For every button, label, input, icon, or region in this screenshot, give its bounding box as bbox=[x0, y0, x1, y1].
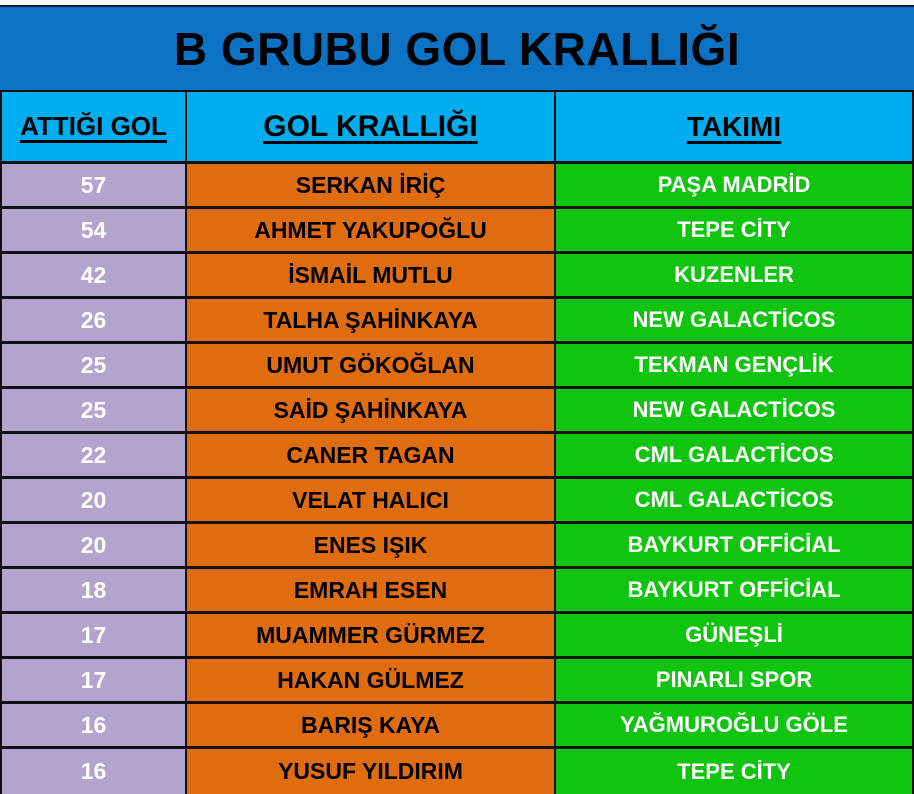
team-value: YAĞMUROĞLU GÖLE bbox=[620, 712, 848, 738]
cell-team: PAŞA MADRİD bbox=[556, 164, 912, 206]
scorer-value: SERKAN İRİÇ bbox=[296, 172, 446, 199]
column-header-goals[interactable]: ATTIĞI GOL bbox=[2, 92, 187, 161]
table-row[interactable]: 26 TALHA ŞAHİNKAYA NEW GALACTİCOS bbox=[2, 299, 912, 344]
cell-goals: 54 bbox=[2, 209, 187, 251]
scorer-value: ENES IŞIK bbox=[314, 532, 428, 559]
cell-goals: 20 bbox=[2, 524, 187, 566]
cell-scorer: AHMET YAKUPOĞLU bbox=[187, 209, 556, 251]
scorer-value: SAİD ŞAHİNKAYA bbox=[274, 397, 468, 424]
goals-value: 16 bbox=[81, 758, 107, 785]
goals-value: 16 bbox=[81, 712, 107, 739]
column-header-scorer[interactable]: GOL KRALLIĞI bbox=[187, 92, 556, 161]
team-value: PINARLI SPOR bbox=[656, 667, 812, 693]
cell-scorer: İSMAİL MUTLU bbox=[187, 254, 556, 296]
team-value: CML GALACTİCOS bbox=[635, 442, 834, 468]
cell-goals: 16 bbox=[2, 749, 187, 794]
scorer-value: BARIŞ KAYA bbox=[301, 712, 440, 739]
cell-goals: 18 bbox=[2, 569, 187, 611]
table-row[interactable]: 20 VELAT HALICI CML GALACTİCOS bbox=[2, 479, 912, 524]
table-row[interactable]: 22 CANER TAGAN CML GALACTİCOS bbox=[2, 434, 912, 479]
cell-scorer: HAKAN GÜLMEZ bbox=[187, 659, 556, 701]
column-header-goals-label: ATTIĞI GOL bbox=[20, 111, 167, 142]
team-value: CML GALACTİCOS bbox=[635, 487, 834, 513]
table-row[interactable]: 42 İSMAİL MUTLU KUZENLER bbox=[2, 254, 912, 299]
table-body: 57 SERKAN İRİÇ PAŞA MADRİD 54 AHMET YAKU… bbox=[2, 164, 912, 794]
cell-goals: 16 bbox=[2, 704, 187, 746]
column-header-scorer-label: GOL KRALLIĞI bbox=[263, 110, 477, 144]
cell-team: PINARLI SPOR bbox=[556, 659, 912, 701]
goals-value: 20 bbox=[81, 532, 107, 559]
cell-scorer: CANER TAGAN bbox=[187, 434, 556, 476]
cell-team: BAYKURT OFFİCİAL bbox=[556, 569, 912, 611]
cell-goals: 17 bbox=[2, 614, 187, 656]
scorer-value: İSMAİL MUTLU bbox=[288, 262, 452, 289]
scorer-value: AHMET YAKUPOĞLU bbox=[254, 217, 487, 244]
scorer-value: UMUT GÖKOĞLAN bbox=[266, 352, 474, 379]
cell-team: BAYKURT OFFİCİAL bbox=[556, 524, 912, 566]
table-row[interactable]: 25 SAİD ŞAHİNKAYA NEW GALACTİCOS bbox=[2, 389, 912, 434]
goals-value: 57 bbox=[81, 172, 107, 199]
cell-goals: 25 bbox=[2, 344, 187, 386]
cell-team: CML GALACTİCOS bbox=[556, 479, 912, 521]
team-value: KUZENLER bbox=[674, 262, 794, 288]
table-row[interactable]: 54 AHMET YAKUPOĞLU TEPE CİTY bbox=[2, 209, 912, 254]
title-banner: B GRUBU GOL KRALLIĞI bbox=[0, 5, 914, 92]
cell-scorer: ENES IŞIK bbox=[187, 524, 556, 566]
scorer-value: EMRAH ESEN bbox=[294, 577, 447, 604]
scoreboard-sheet: B GRUBU GOL KRALLIĞI ATTIĞI GOL GOL KRAL… bbox=[0, 0, 914, 791]
team-value: PAŞA MADRİD bbox=[658, 172, 811, 198]
table-row[interactable]: 16 BARIŞ KAYA YAĞMUROĞLU GÖLE bbox=[2, 704, 912, 749]
table-row[interactable]: 16 YUSUF YILDIRIM TEPE CİTY bbox=[2, 749, 912, 794]
goals-value: 20 bbox=[81, 487, 107, 514]
team-value: TEKMAN GENÇLİK bbox=[634, 352, 833, 378]
scorer-value: VELAT HALICI bbox=[292, 487, 449, 514]
goals-value: 25 bbox=[81, 352, 107, 379]
cell-goals: 22 bbox=[2, 434, 187, 476]
table-header-row: ATTIĞI GOL GOL KRALLIĞI TAKIMI bbox=[2, 92, 912, 164]
table-row[interactable]: 17 MUAMMER GÜRMEZ GÜNEŞLİ bbox=[2, 614, 912, 659]
table-row[interactable]: 20 ENES IŞIK BAYKURT OFFİCİAL bbox=[2, 524, 912, 569]
scorer-value: MUAMMER GÜRMEZ bbox=[256, 622, 485, 649]
cell-scorer: SAİD ŞAHİNKAYA bbox=[187, 389, 556, 431]
cell-team: TEPE CİTY bbox=[556, 209, 912, 251]
cell-team: CML GALACTİCOS bbox=[556, 434, 912, 476]
cell-team: GÜNEŞLİ bbox=[556, 614, 912, 656]
cell-goals: 57 bbox=[2, 164, 187, 206]
cell-team: TEKMAN GENÇLİK bbox=[556, 344, 912, 386]
cell-team: TEPE CİTY bbox=[556, 749, 912, 794]
goals-value: 26 bbox=[81, 307, 107, 334]
table-row[interactable]: 18 EMRAH ESEN BAYKURT OFFİCİAL bbox=[2, 569, 912, 614]
cell-scorer: YUSUF YILDIRIM bbox=[187, 749, 556, 794]
cell-goals: 20 bbox=[2, 479, 187, 521]
cell-goals: 25 bbox=[2, 389, 187, 431]
cell-team: NEW GALACTİCOS bbox=[556, 389, 912, 431]
cell-goals: 26 bbox=[2, 299, 187, 341]
cell-scorer: TALHA ŞAHİNKAYA bbox=[187, 299, 556, 341]
cell-scorer: BARIŞ KAYA bbox=[187, 704, 556, 746]
scorer-value: YUSUF YILDIRIM bbox=[278, 758, 463, 785]
scorer-value: CANER TAGAN bbox=[286, 442, 454, 469]
table-row[interactable]: 17 HAKAN GÜLMEZ PINARLI SPOR bbox=[2, 659, 912, 704]
cell-team: KUZENLER bbox=[556, 254, 912, 296]
scorer-value: HAKAN GÜLMEZ bbox=[277, 667, 464, 694]
table-row[interactable]: 57 SERKAN İRİÇ PAŞA MADRİD bbox=[2, 164, 912, 209]
top-scorers-table: ATTIĞI GOL GOL KRALLIĞI TAKIMI 57 SERKAN… bbox=[0, 92, 914, 794]
cell-scorer: EMRAH ESEN bbox=[187, 569, 556, 611]
column-header-team[interactable]: TAKIMI bbox=[556, 92, 912, 161]
team-value: BAYKURT OFFİCİAL bbox=[627, 532, 840, 558]
team-value: TEPE CİTY bbox=[677, 217, 791, 243]
goals-value: 17 bbox=[81, 667, 107, 694]
goals-value: 54 bbox=[81, 217, 107, 244]
page-title: B GRUBU GOL KRALLIĞI bbox=[174, 26, 740, 72]
cell-scorer: SERKAN İRİÇ bbox=[187, 164, 556, 206]
goals-value: 22 bbox=[81, 442, 107, 469]
cell-team: NEW GALACTİCOS bbox=[556, 299, 912, 341]
cell-scorer: VELAT HALICI bbox=[187, 479, 556, 521]
table-row[interactable]: 25 UMUT GÖKOĞLAN TEKMAN GENÇLİK bbox=[2, 344, 912, 389]
cell-team: YAĞMUROĞLU GÖLE bbox=[556, 704, 912, 746]
goals-value: 17 bbox=[81, 622, 107, 649]
team-value: BAYKURT OFFİCİAL bbox=[627, 577, 840, 603]
team-value: NEW GALACTİCOS bbox=[633, 397, 836, 423]
column-header-team-label: TAKIMI bbox=[687, 111, 781, 143]
cell-goals: 42 bbox=[2, 254, 187, 296]
goals-value: 25 bbox=[81, 397, 107, 424]
goals-value: 42 bbox=[81, 262, 107, 289]
scorer-value: TALHA ŞAHİNKAYA bbox=[263, 307, 477, 334]
team-value: TEPE CİTY bbox=[677, 759, 791, 785]
cell-goals: 17 bbox=[2, 659, 187, 701]
cell-scorer: UMUT GÖKOĞLAN bbox=[187, 344, 556, 386]
cell-scorer: MUAMMER GÜRMEZ bbox=[187, 614, 556, 656]
team-value: NEW GALACTİCOS bbox=[633, 307, 836, 333]
goals-value: 18 bbox=[81, 577, 107, 604]
team-value: GÜNEŞLİ bbox=[685, 622, 783, 648]
